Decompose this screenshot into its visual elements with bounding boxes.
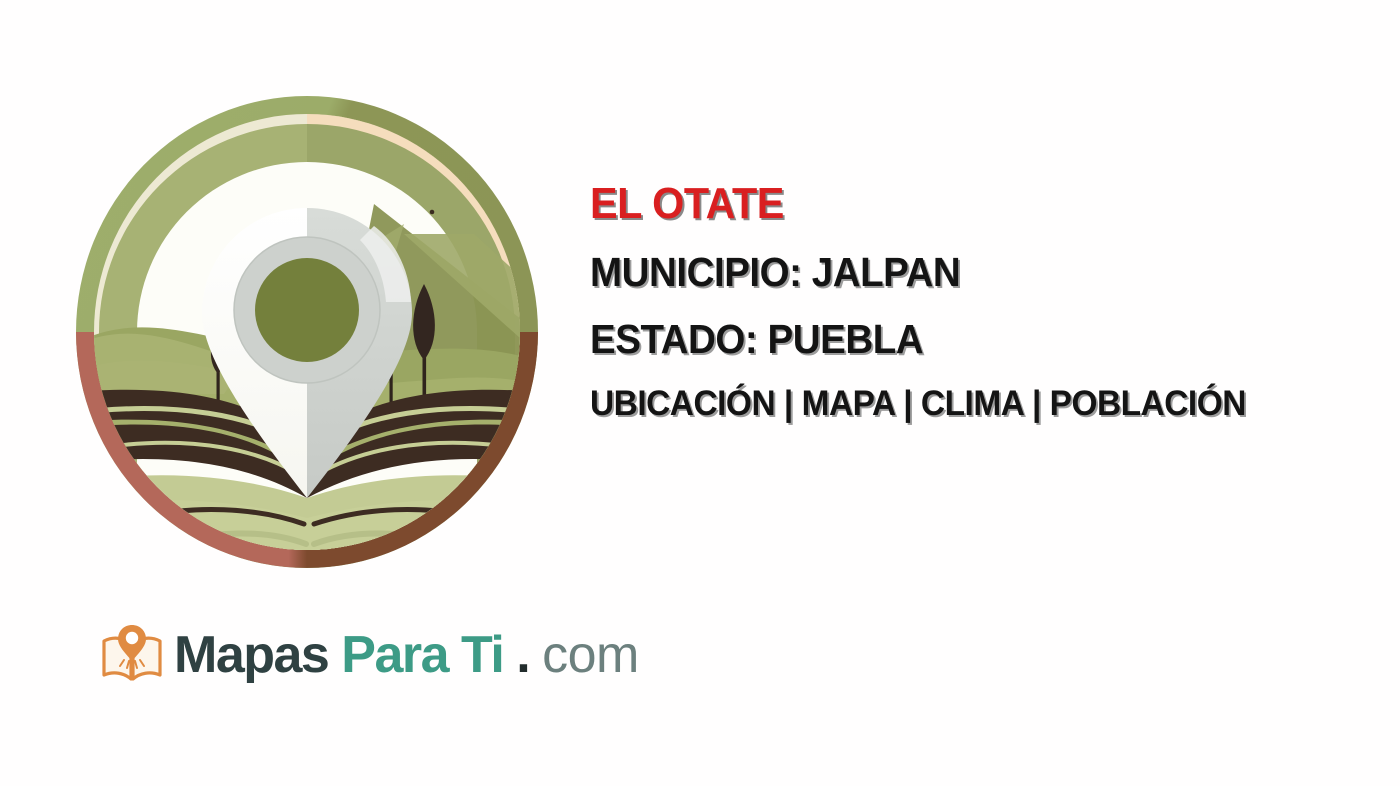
link-poblacion[interactable]: POBLACIÓN: [1050, 384, 1246, 423]
page-root: EL OTATE MUNICIPIO: JALPAN ESTADO: PUEBL…: [0, 0, 1400, 786]
speck-detail: [430, 210, 435, 215]
link-ubicacion[interactable]: UBICACIÓN: [590, 384, 775, 423]
page-title: EL OTATE: [590, 182, 1342, 226]
brand-word-dot: .: [516, 626, 529, 684]
link-separator-3: |: [1032, 384, 1041, 423]
state-line: ESTADO: PUEBLA: [590, 319, 1342, 360]
open-book-map-pin-logo-icon: [96, 619, 168, 691]
brand-word-parati: Para Ti: [341, 626, 503, 684]
link-separator-1: |: [784, 384, 793, 423]
brand-word-com: com: [542, 626, 639, 684]
place-info-block: EL OTATE MUNICIPIO: JALPAN ESTADO: PUEBL…: [590, 182, 1390, 421]
rural-landscape-location-pin-emblem: [74, 94, 540, 570]
brand-wordmark: Mapas Para Ti . com: [174, 629, 639, 681]
emblem-illustration: [74, 94, 540, 570]
link-separator-2: |: [903, 384, 912, 423]
brand-logo-lockup[interactable]: Mapas Para Ti . com: [96, 616, 639, 694]
municipality-line: MUNICIPIO: JALPAN: [590, 252, 1342, 293]
nav-links-row: UBICACIÓN | MAPA | CLIMA | POBLACIÓN: [590, 386, 1354, 421]
brand-word-mapas: Mapas: [174, 626, 328, 684]
link-mapa[interactable]: MAPA: [802, 384, 895, 423]
link-clima[interactable]: CLIMA: [921, 384, 1023, 423]
